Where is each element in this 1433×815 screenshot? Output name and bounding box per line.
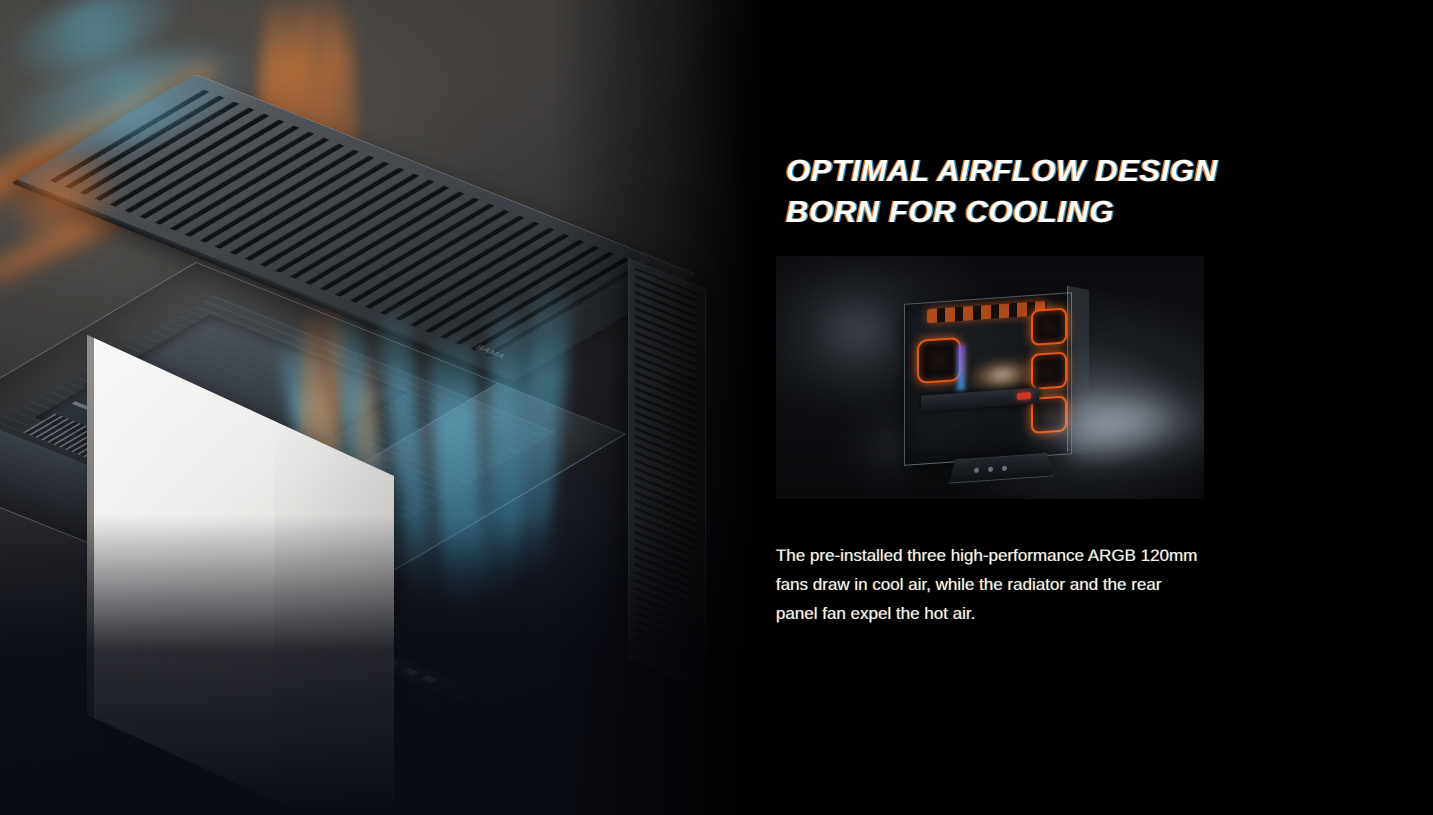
- exploded-case-illustration: SAMA: [0, 0, 763, 815]
- section-body-text: The pre-installed three high-performance…: [776, 541, 1206, 628]
- headline-line-2: BORN FOR COOLING: [786, 191, 1406, 232]
- argb-fan: [1031, 307, 1067, 346]
- section-headline: OPTIMAL AIRFLOW DESIGN BORN FOR COOLING: [786, 150, 1406, 232]
- headline-line-1: OPTIMAL AIRFLOW DESIGN: [786, 150, 1406, 191]
- pc-case-photo-subject: [904, 292, 1072, 466]
- hot-airflow-glow: [0, 140, 120, 250]
- promo-section: SAMA: [0, 0, 1433, 815]
- graphics-card: [921, 387, 1039, 411]
- product-photo: [776, 256, 1204, 499]
- top-radiator-fans: [927, 301, 1047, 323]
- argb-fan: [917, 337, 961, 384]
- glass-side-panel: [1067, 286, 1089, 456]
- floor-shadow: [0, 515, 763, 815]
- case-stand: [949, 452, 1053, 483]
- rgb-strip: [957, 345, 965, 392]
- copy-panel: OPTIMAL AIRFLOW DESIGN BORN FOR COOLING: [763, 0, 1433, 815]
